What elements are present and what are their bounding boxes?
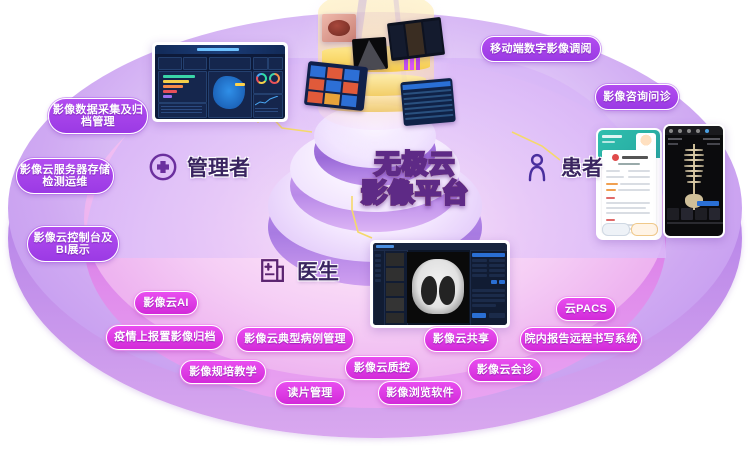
pill-doctor-7-label: 影像云共享 xyxy=(433,333,490,345)
phone-3d-screen xyxy=(665,126,723,236)
endoscopy-thumbnail xyxy=(322,14,356,42)
pill-doctor-1-label: 疫情上报置影像归档 xyxy=(114,331,216,343)
pill-doctor-0[interactable]: 影像云AI xyxy=(134,291,198,315)
pacs-viewer-screen xyxy=(373,243,507,325)
pill-doctor-4[interactable]: 读片管理 xyxy=(275,381,345,405)
pill-doctor-10[interactable]: 院内报告远程书写系统 xyxy=(520,327,642,352)
pill-doctor-2[interactable]: 影像云典型病例管理 xyxy=(236,327,354,352)
role-doctor-label: 医生 xyxy=(297,256,339,286)
role-admin[interactable]: 管理者 xyxy=(148,152,250,182)
document-plus-icon xyxy=(258,256,288,286)
ct-series-thumbnail xyxy=(387,17,445,61)
page-title: 无极云 影像平台 xyxy=(330,150,500,208)
app-tiles-screen xyxy=(304,61,368,111)
bi-dashboard-device[interactable] xyxy=(152,42,288,122)
pill-patient-0-label: 移动端数字影像调阅 xyxy=(490,43,592,55)
pill-doctor-5[interactable]: 影像云质控 xyxy=(345,356,419,380)
pill-doctor-7[interactable]: 影像云共享 xyxy=(424,327,498,352)
pill-doctor-9-label: 云PACS xyxy=(565,303,607,315)
pill-doctor-10-label: 院内报告远程书写系统 xyxy=(525,333,638,345)
pill-doctor-6-label: 影像浏览软件 xyxy=(386,387,454,399)
pill-doctor-3[interactable]: 影像规培教学 xyxy=(180,360,266,384)
pill-doctor-4-label: 读片管理 xyxy=(287,387,332,399)
pill-admin-0[interactable]: 影像数据采集及归档管理 xyxy=(48,98,148,134)
circle-plus-icon xyxy=(148,152,178,182)
pill-patient-1[interactable]: 影像咨询问诊 xyxy=(595,84,679,110)
title-line-1: 无极云 xyxy=(330,150,500,179)
pill-admin-2-label: 影像云控制台及BI展示 xyxy=(28,232,118,257)
infographic-canvas: 无极云 影像平台 管理者 患者 医生 影像数据采集及归档管理 影像云服务器 xyxy=(0,0,750,450)
role-admin-label: 管理者 xyxy=(187,152,250,182)
phone-report-device[interactable] xyxy=(596,128,662,240)
pill-patient-1-label: 影像咨询问诊 xyxy=(603,91,671,103)
skeleton-3d-render xyxy=(680,144,708,210)
pill-admin-1-label: 影像云服务器存储检测运维 xyxy=(17,164,113,189)
phone-report-screen xyxy=(598,130,660,238)
role-patient-label: 患者 xyxy=(561,152,603,182)
phone-3d-device[interactable] xyxy=(663,124,725,238)
pacs-viewer-device[interactable] xyxy=(370,240,510,328)
pill-doctor-3-label: 影像规培教学 xyxy=(189,366,257,378)
role-patient[interactable]: 患者 xyxy=(522,152,603,182)
pill-doctor-1[interactable]: 疫情上报置影像归档 xyxy=(106,325,224,350)
report-table-screen xyxy=(400,78,456,126)
person-icon xyxy=(522,152,552,182)
pill-doctor-8[interactable]: 影像云会诊 xyxy=(468,358,542,382)
pill-doctor-6[interactable]: 影像浏览软件 xyxy=(378,381,462,405)
pill-doctor-2-label: 影像云典型病例管理 xyxy=(244,333,346,345)
pill-doctor-8-label: 影像云会诊 xyxy=(477,364,534,376)
pill-admin-2[interactable]: 影像云控制台及BI展示 xyxy=(27,226,119,262)
pill-doctor-5-label: 影像云质控 xyxy=(354,362,411,374)
pill-doctor-9[interactable]: 云PACS xyxy=(556,297,616,321)
pill-admin-1[interactable]: 影像云服务器存储检测运维 xyxy=(16,158,114,194)
chest-ct-image xyxy=(407,252,469,323)
pill-admin-0-label: 影像数据采集及归档管理 xyxy=(49,104,147,129)
title-line-2: 影像平台 xyxy=(330,179,500,208)
pill-patient-0[interactable]: 移动端数字影像调阅 xyxy=(481,36,601,62)
role-doctor[interactable]: 医生 xyxy=(258,256,339,286)
bi-dashboard-screen xyxy=(155,45,285,119)
pill-doctor-0-label: 影像云AI xyxy=(143,297,189,309)
